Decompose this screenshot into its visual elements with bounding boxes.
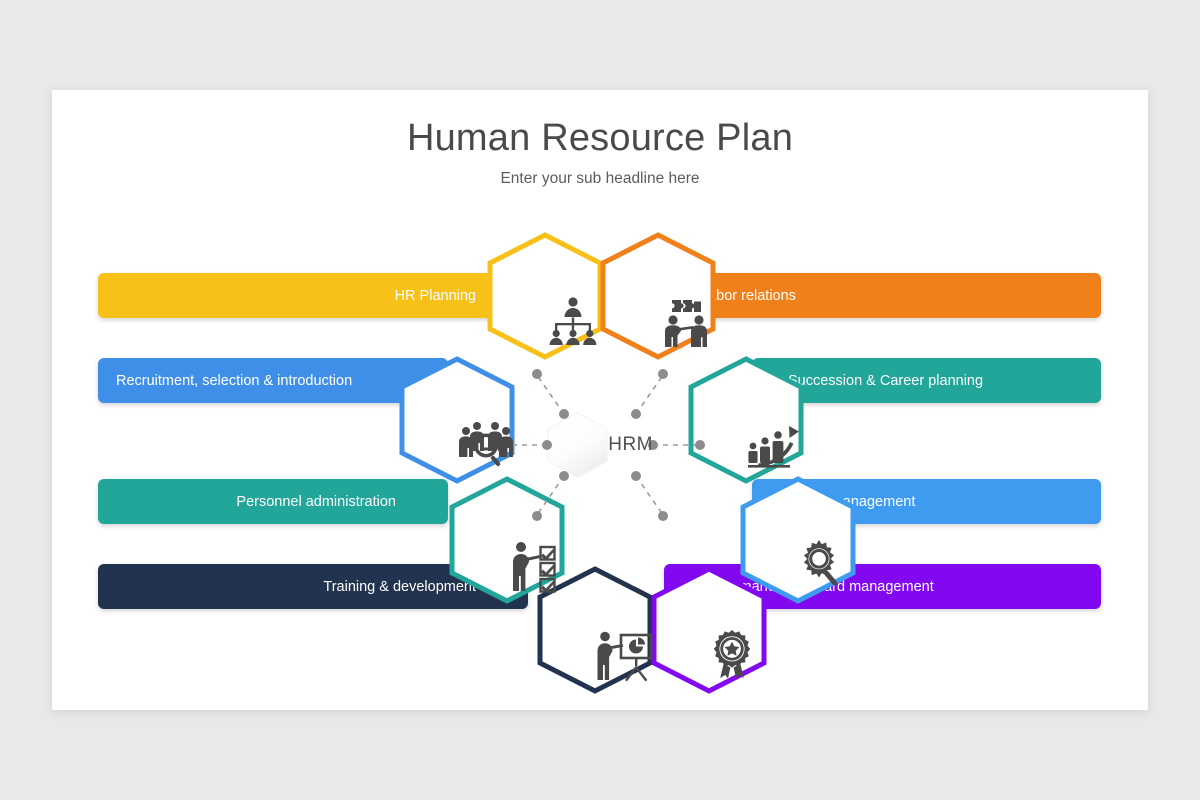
bar-hr-planning[interactable]: HR Planning: [98, 273, 528, 318]
hexagon-succession[interactable]: [686, 355, 806, 485]
bar-labor-relations[interactable]: Labor relations: [664, 273, 1101, 318]
slide-canvas: Human Resource Plan Enter your sub headl…: [52, 90, 1148, 710]
bar-personnel-administration[interactable]: Personnel administration: [98, 479, 448, 524]
hexagon-labor-relations[interactable]: [598, 231, 718, 361]
hexagon-performance-reward[interactable]: [649, 565, 769, 695]
bar-recruitment[interactable]: Recruitment, selection & introduction: [98, 358, 448, 403]
hexagon-personnel-administration[interactable]: [447, 475, 567, 605]
page-title: Human Resource Plan: [52, 117, 1148, 160]
page-subtitle: Enter your sub headline here: [52, 170, 1148, 188]
hexagon-recruitment[interactable]: [397, 355, 517, 485]
bar-label-personnel-administration: Personnel administration: [236, 494, 448, 510]
bar-label-recruitment: Recruitment, selection & introduction: [116, 373, 352, 389]
hexagon-hr-planning[interactable]: [485, 231, 605, 361]
hub-label: HRM: [608, 434, 653, 456]
